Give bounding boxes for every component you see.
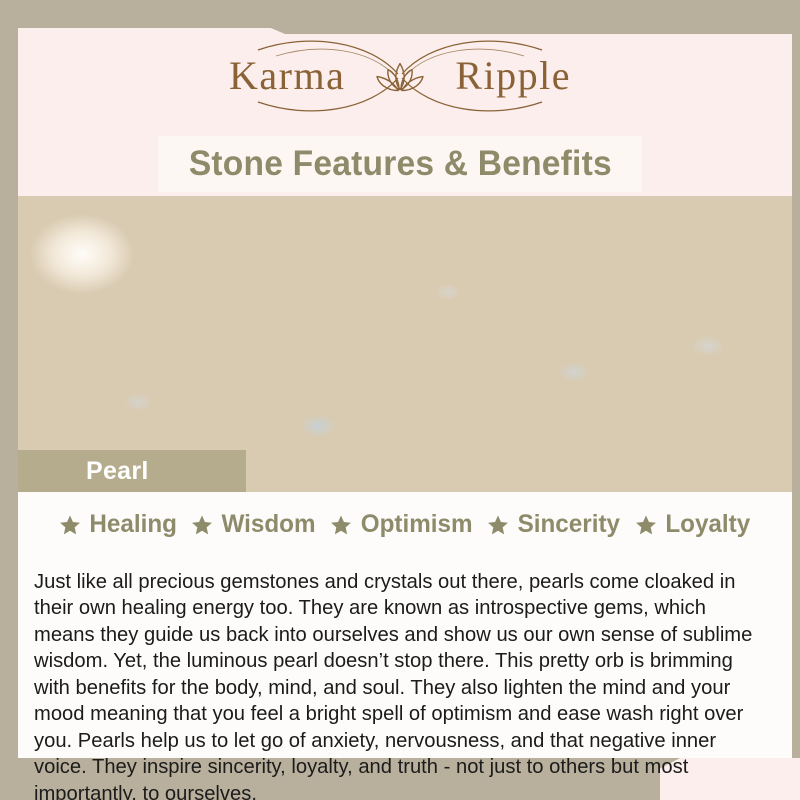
pearl-photo-sheen: [18, 196, 792, 492]
star-icon: [330, 514, 352, 536]
star-icon: [635, 514, 657, 536]
lotus-icon: [372, 58, 428, 98]
star-icon: [59, 514, 81, 536]
brand-word-ripple: Ripple: [455, 56, 571, 96]
brand-word-karma: Karma: [229, 56, 345, 96]
infographic-canvas: Karma Ripple Stone Features & Benefits P…: [0, 0, 800, 800]
page-title: Stone Features & Benefits: [188, 144, 611, 184]
stone-name-bar: Pearl: [18, 450, 246, 492]
benefit-keyword-item: Healing: [59, 512, 178, 537]
star-icon: [191, 514, 213, 536]
brand-lockup: Karma Ripple: [180, 30, 620, 122]
benefit-keyword-item: Sincerity: [487, 512, 622, 537]
benefit-keyword-row: HealingWisdomOptimismSincerityLoyalty: [18, 512, 792, 537]
decor-right-strip: [792, 28, 800, 758]
star-icon: [487, 514, 509, 536]
stone-name-label: Pearl: [18, 457, 149, 486]
benefit-keyword-label: Loyalty: [665, 512, 750, 537]
benefit-keyword-item: Loyalty: [635, 512, 752, 537]
benefit-keyword-label: Sincerity: [518, 512, 620, 537]
pearl-photo: [18, 196, 792, 492]
description-paragraph: Just like all precious gemstones and cry…: [34, 569, 759, 800]
title-banner: Stone Features & Benefits: [158, 136, 642, 192]
benefit-keyword-label: Optimism: [361, 512, 473, 537]
benefit-keyword-label: Healing: [89, 512, 177, 537]
decor-left-strip: [0, 28, 18, 800]
brand-header: Karma Ripple: [0, 26, 800, 126]
benefit-keyword-item: Optimism: [330, 512, 474, 537]
benefit-keyword-item: Wisdom: [191, 512, 317, 537]
benefit-keyword-label: Wisdom: [221, 512, 315, 537]
